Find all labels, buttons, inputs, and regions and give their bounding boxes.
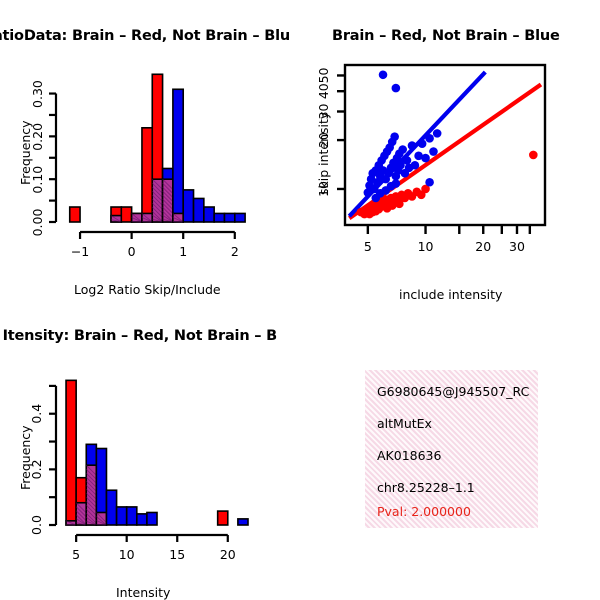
- y-tick-label: 0.10: [30, 166, 45, 194]
- annotation-event-type: altMutEx: [377, 416, 432, 431]
- scatter-point: [429, 147, 438, 156]
- hatch: [173, 221, 183, 222]
- y-tick-label: 0.0: [29, 515, 44, 535]
- ratio-bars: [70, 74, 245, 222]
- hatch: [96, 524, 106, 525]
- histogram-bar: [204, 207, 214, 222]
- y-tick-label: 40: [316, 83, 331, 99]
- y-tick-label: 30: [316, 103, 331, 119]
- histogram-bar: [235, 213, 245, 222]
- histogram-bar: [142, 128, 152, 222]
- scatter-point: [390, 132, 399, 141]
- panel-intensity-histogram: ne Itensity: Brain – Red, Not Brain – B …: [0, 300, 300, 600]
- hatch: [142, 221, 152, 222]
- y-tick-label: 10: [316, 181, 331, 197]
- y-tick-label: 20: [316, 132, 331, 148]
- ratio-axes: 0.000.100.200.30−1012: [30, 80, 239, 259]
- scatter-point: [408, 141, 417, 150]
- histogram-bar: [218, 511, 228, 525]
- histogram-bar: [106, 490, 116, 525]
- intensity-axes: 0.00.20.45101520: [29, 386, 236, 562]
- histogram-bar: [173, 89, 183, 222]
- y-tick-label: 0.00: [30, 209, 45, 237]
- scatter-points-group: [349, 70, 541, 218]
- ratio-histogram-plot: 0.000.100.200.30−1012: [0, 0, 300, 300]
- annotation-probe-id: G6980645@J945507_RC: [377, 384, 529, 399]
- annotation-locus: chr8.25228–1.1: [377, 480, 475, 495]
- y-tick-label: 0.2: [29, 459, 44, 479]
- scatter-point: [529, 151, 538, 160]
- histogram-bar: [66, 380, 76, 525]
- y-tick-label: 50: [316, 67, 331, 83]
- histogram-bar: [183, 190, 193, 222]
- scatter-point: [421, 154, 430, 163]
- x-tick-label: 5: [364, 239, 372, 254]
- histogram-bar: [137, 514, 147, 525]
- x-tick-label: 0: [128, 244, 136, 259]
- scatter-point: [388, 201, 397, 210]
- histogram-bar: [224, 213, 234, 222]
- x-tick-label: 10: [119, 547, 135, 562]
- scatter-point: [403, 156, 412, 165]
- x-tick-label: 10: [418, 239, 434, 254]
- scatter-point: [379, 70, 388, 79]
- scatter-point: [392, 179, 401, 188]
- scatter-point: [418, 139, 427, 148]
- panel-intensity-scatter: Brain – Red, Not Brain – Blue skip inten…: [300, 0, 600, 300]
- scatter-point: [392, 84, 401, 93]
- histogram-bar: [70, 207, 80, 222]
- scatter-plot: 10203040505102030: [300, 0, 600, 300]
- intensity-histogram-plot: 0.00.20.45101520: [0, 300, 300, 600]
- scatter-point: [411, 161, 420, 170]
- x-tick-label: −1: [71, 244, 89, 259]
- histogram-bar: [147, 512, 157, 525]
- scatter-point: [433, 129, 442, 138]
- histogram-bar: [194, 198, 204, 222]
- histogram-bar: [214, 213, 224, 222]
- panel-ratio-histogram: RatioData: Brain – Red, Not Brain – Blu …: [0, 0, 300, 300]
- x-tick-label: 20: [475, 239, 491, 254]
- hatch: [132, 221, 142, 222]
- histogram-bar: [127, 507, 137, 525]
- x-tick-label: 1: [179, 244, 187, 259]
- scatter-point: [398, 145, 407, 154]
- histogram-bar: [238, 519, 248, 525]
- x-tick-label: 30: [509, 239, 525, 254]
- x-tick-label: 5: [72, 547, 80, 562]
- x-tick-label: 2: [231, 244, 239, 259]
- y-tick-label: 0.4: [29, 404, 44, 424]
- y-tick-label: 0.20: [30, 123, 45, 151]
- scatter-point: [425, 178, 434, 187]
- x-tick-label: 20: [220, 547, 236, 562]
- scatter-point: [395, 200, 404, 209]
- histogram-bar: [117, 507, 127, 525]
- intensity-bars: [66, 380, 248, 525]
- x-tick-label: 15: [169, 547, 185, 562]
- y-tick-label: 0.30: [30, 80, 45, 108]
- scatter-point: [425, 134, 434, 143]
- annotation-box: G6980645@J945507_RC altMutEx AK018636 ch…: [365, 370, 538, 528]
- annotation-pval: Pval: 2.000000: [377, 504, 471, 519]
- annotation-accession: AK018636: [377, 448, 441, 463]
- histogram-bar: [121, 207, 131, 222]
